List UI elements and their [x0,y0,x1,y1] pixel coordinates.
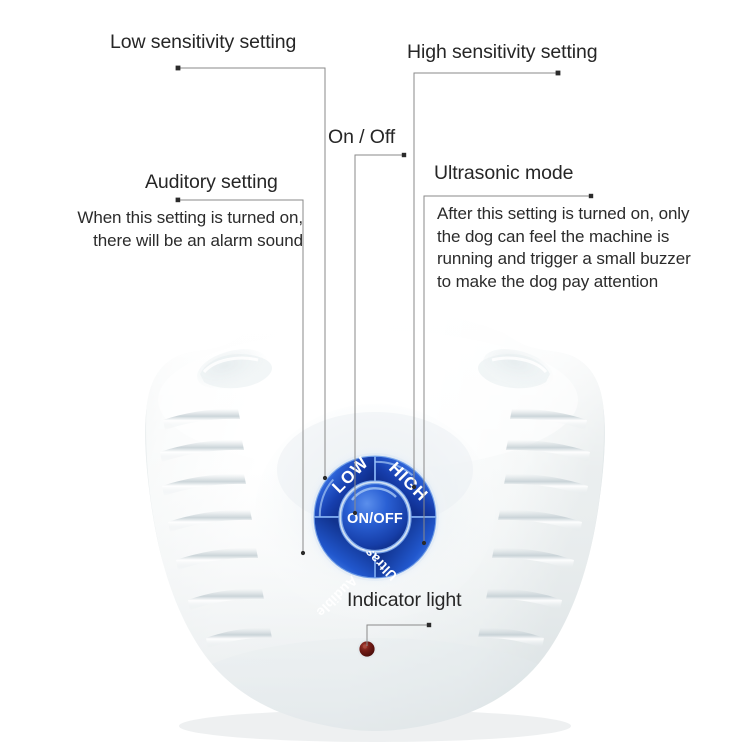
auditory-desc-line-1: When this setting is turned on, [43,207,303,230]
callout-label-indicator-light: Indicator light [347,590,461,610]
callout-label-auditory: Auditory setting [145,172,278,192]
callout-label-high-sensitivity: High sensitivity setting [407,42,598,62]
callout-description-ultrasonic: After this setting is turned on, only th… [437,203,727,293]
ultrasonic-desc-line-4: to make the dog pay attention [437,271,727,294]
callout-description-auditory: When this setting is turned on, there wi… [43,207,303,252]
indicator-light [358,640,377,659]
ultrasonic-desc-line-2: the dog can feel the machine is [437,226,727,249]
callout-label-low-sensitivity: Low sensitivity setting [110,32,296,52]
diagram-canvas: LOW HIGH Audible Ultrasonic [0,0,750,750]
device-illustration: LOW HIGH Audible Ultrasonic [0,0,750,750]
button-on-off[interactable]: ON/OFF [342,484,409,551]
ultrasonic-desc-line-1: After this setting is turned on, only [437,203,727,226]
callout-label-on-off: On / Off [328,127,395,147]
ultrasonic-desc-line-3: running and trigger a small buzzer [437,248,727,271]
button-on-off-label: ON/OFF [347,511,403,527]
auditory-desc-line-2: there will be an alarm sound [43,230,303,253]
callout-label-ultrasonic: Ultrasonic mode [434,163,573,183]
